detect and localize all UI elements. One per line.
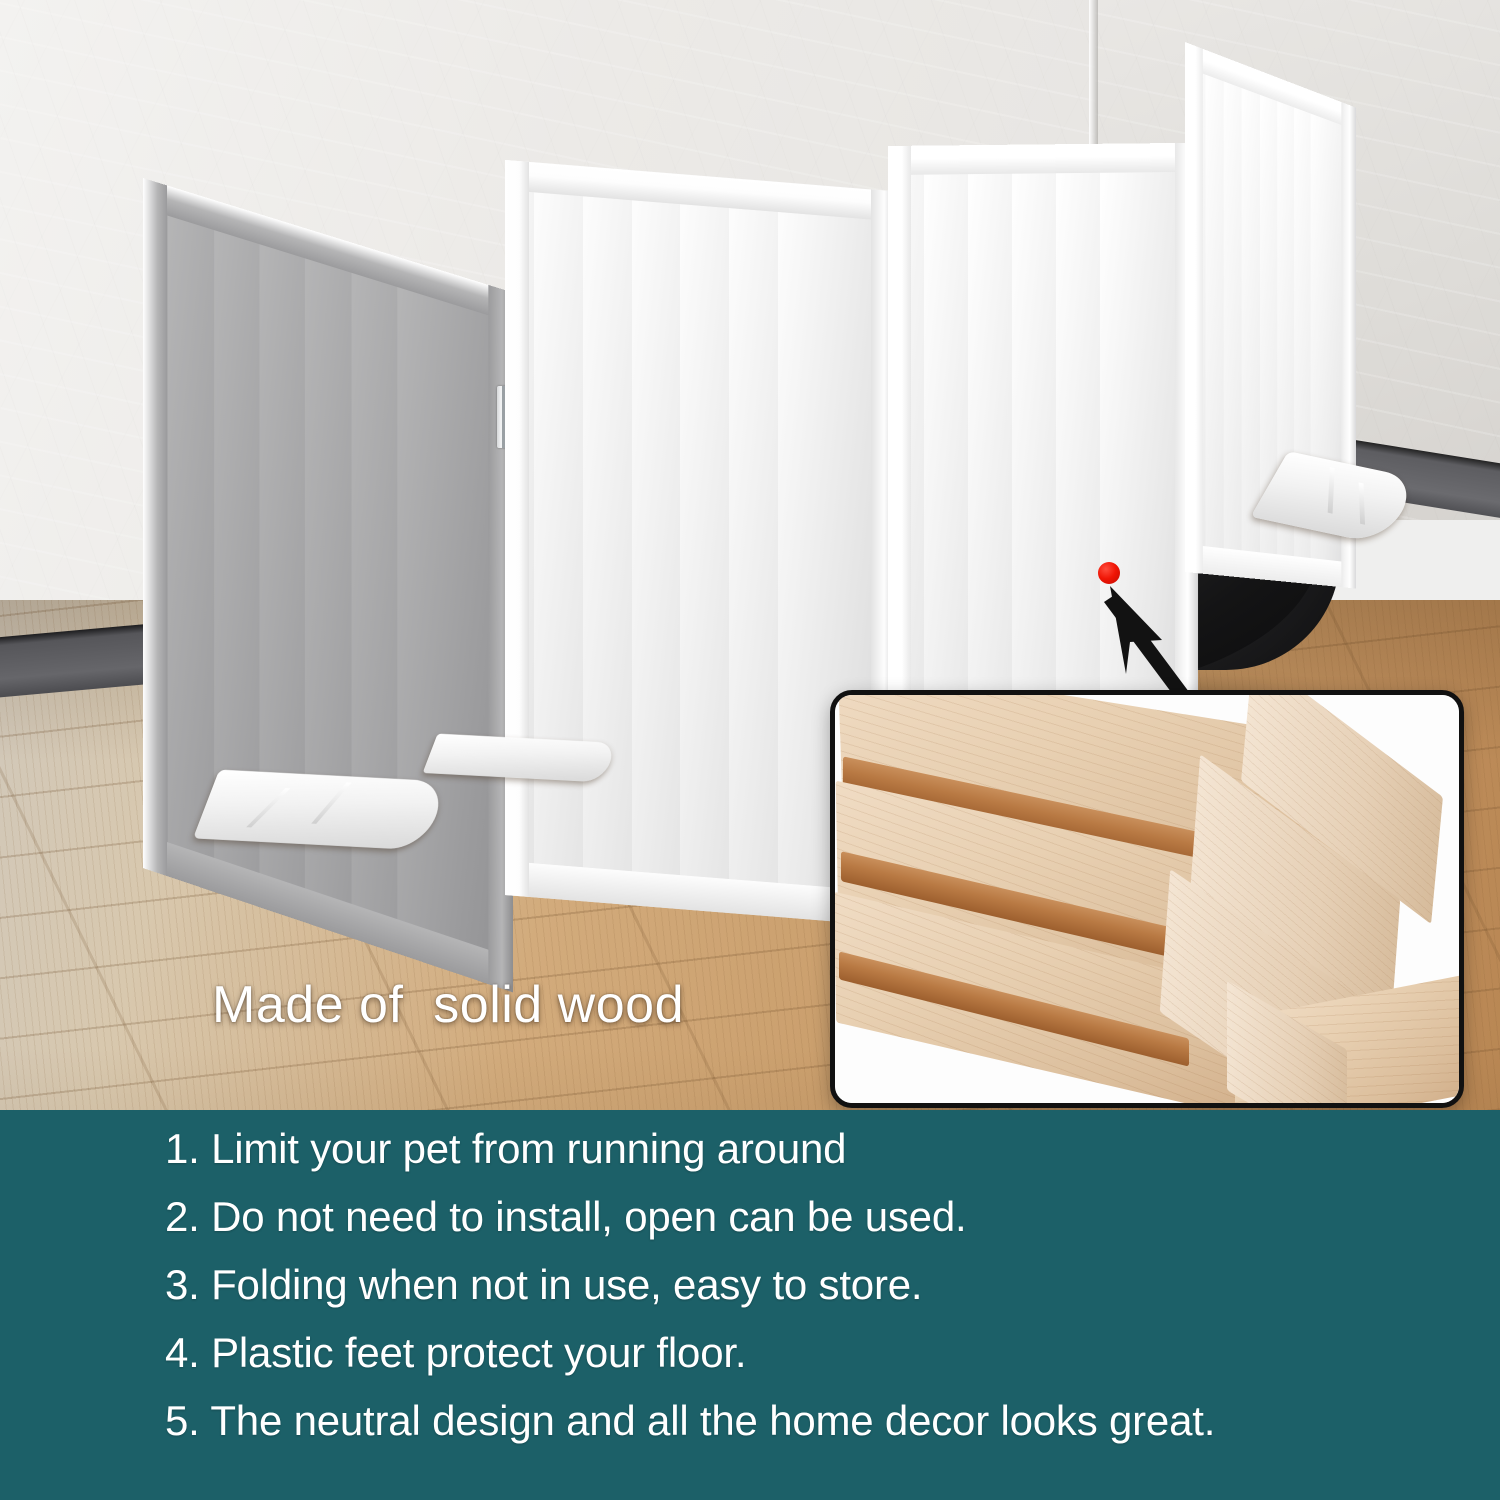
feature-list-panel: 1. Limit your pet from running around 2.… xyxy=(0,1110,1500,1500)
gate-left-stile xyxy=(888,146,911,764)
made-of-solid-wood-caption: Made of solid wood xyxy=(212,975,684,1035)
feature-item-3: 3. Folding when not in use, easy to stor… xyxy=(165,1264,1465,1306)
product-feature-image: Made of solid wood xyxy=(0,0,1500,1500)
feature-item-2: 2. Do not need to install, open can be u… xyxy=(165,1196,1465,1238)
gate-panel-1[interactable] xyxy=(143,178,513,992)
solid-wood-boards-inset xyxy=(830,690,1464,1108)
inset-background xyxy=(835,695,1459,1103)
gate-left-stile xyxy=(143,178,167,876)
room-scene-photo: Made of solid wood xyxy=(0,0,1500,1110)
gate-top-rail xyxy=(888,143,1198,175)
gate-left-stile xyxy=(1185,42,1203,574)
gate-panel-opening xyxy=(529,192,871,891)
feature-item-5: 5. The neutral design and all the home d… xyxy=(165,1400,1465,1442)
feature-item-1: 1. Limit your pet from running around xyxy=(165,1128,1465,1170)
gate-left-stile xyxy=(505,160,529,897)
feature-list: 1. Limit your pet from running around 2.… xyxy=(165,1128,1465,1468)
feature-item-4: 4. Plastic feet protect your floor. xyxy=(165,1332,1465,1374)
gate-foot-left xyxy=(193,770,449,851)
